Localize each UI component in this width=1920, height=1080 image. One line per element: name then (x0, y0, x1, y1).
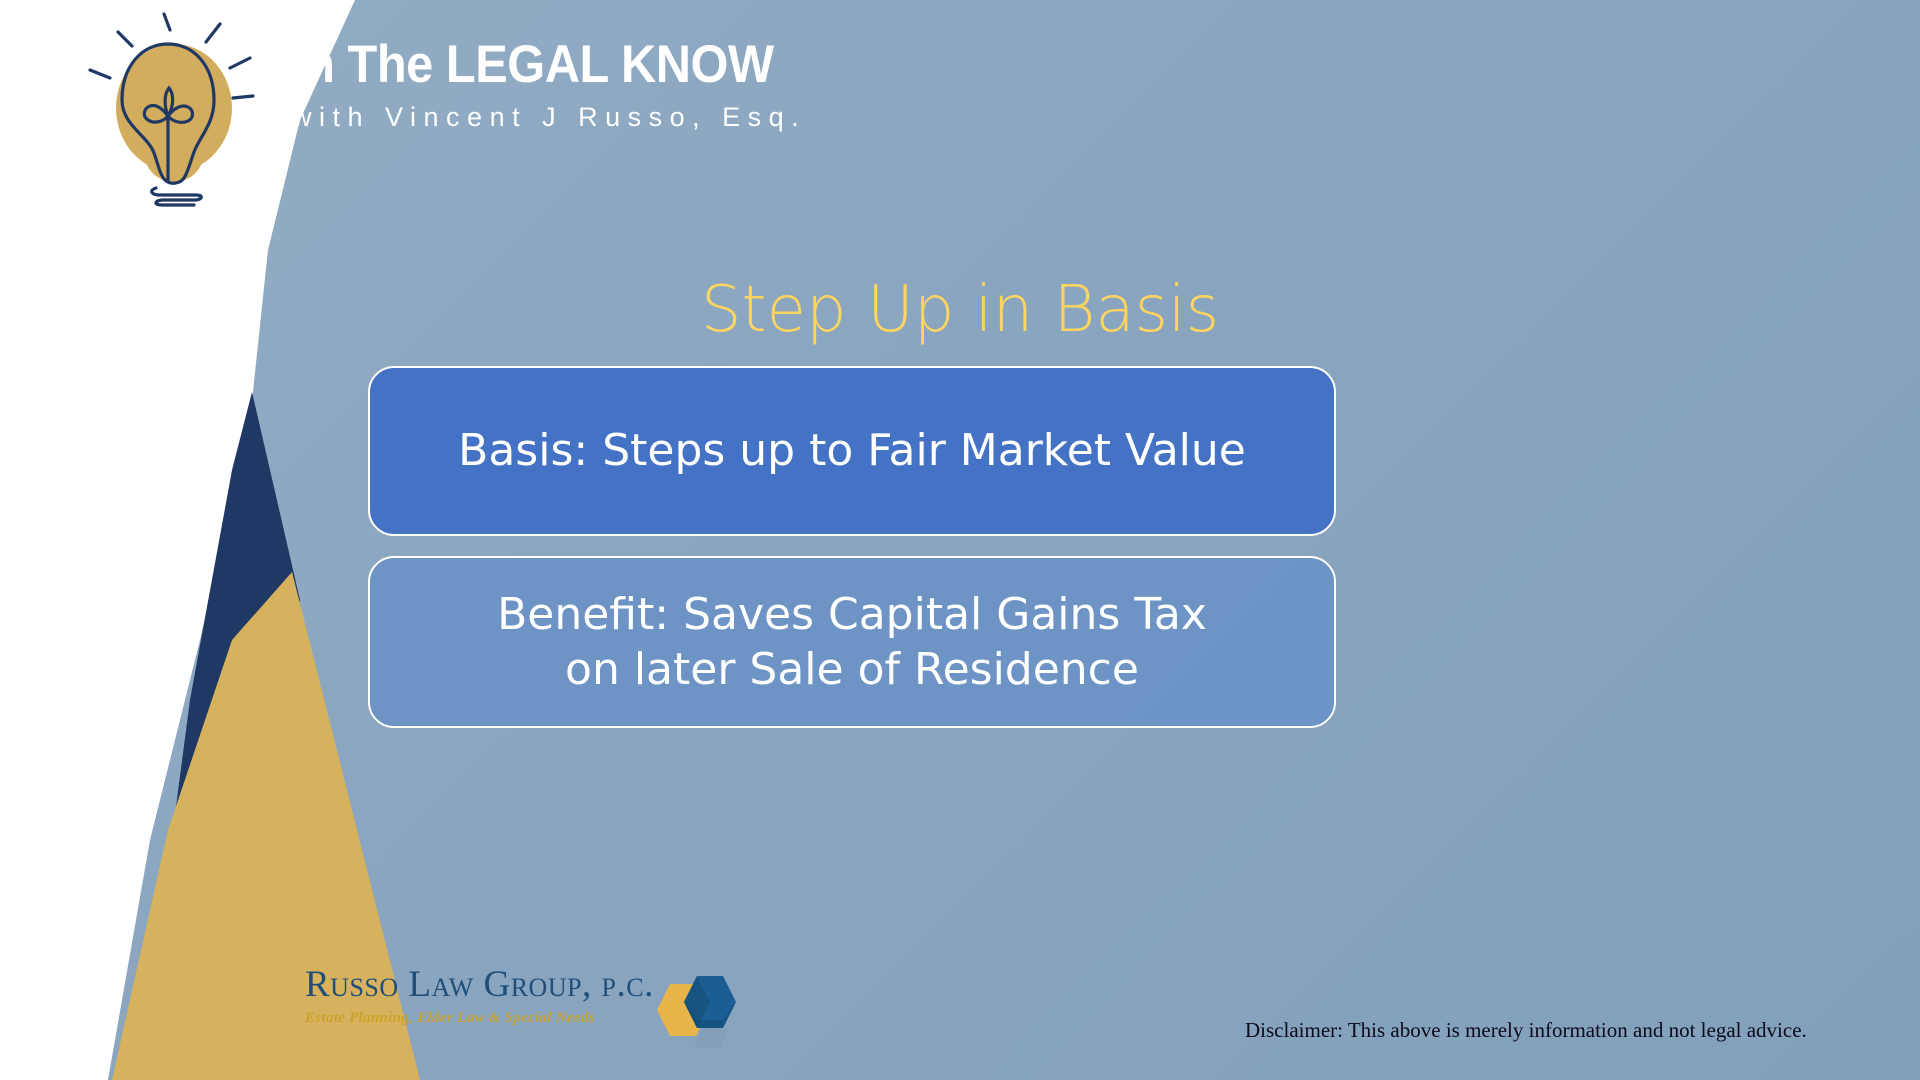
hexagon-logo-icon (640, 962, 750, 1062)
content-box-benefit-text: Benefit: Saves Capital Gains Tax on late… (471, 587, 1233, 698)
slide-canvas: In The LEGAL KNOW with Vincent J Russo, … (0, 0, 1920, 1080)
content-box-basis-text: Basis: Steps up to Fair Market Value (432, 423, 1272, 478)
content-box-basis: Basis: Steps up to Fair Market Value (368, 366, 1336, 536)
brand-subtitle: with Vincent J Russo, Esq. (292, 102, 815, 133)
heading-line-1: Step Up in Basis (300, 272, 1620, 349)
disclaimer-text: Disclaimer: This above is merely informa… (1245, 1018, 1807, 1043)
brand-header: In The LEGAL KNOW with Vincent J Russo, … (292, 38, 815, 133)
content-box-benefit: Benefit: Saves Capital Gains Tax on late… (368, 556, 1336, 728)
brand-title: In The LEGAL KNOW (292, 38, 774, 92)
lightbulb-icon (70, 12, 270, 212)
